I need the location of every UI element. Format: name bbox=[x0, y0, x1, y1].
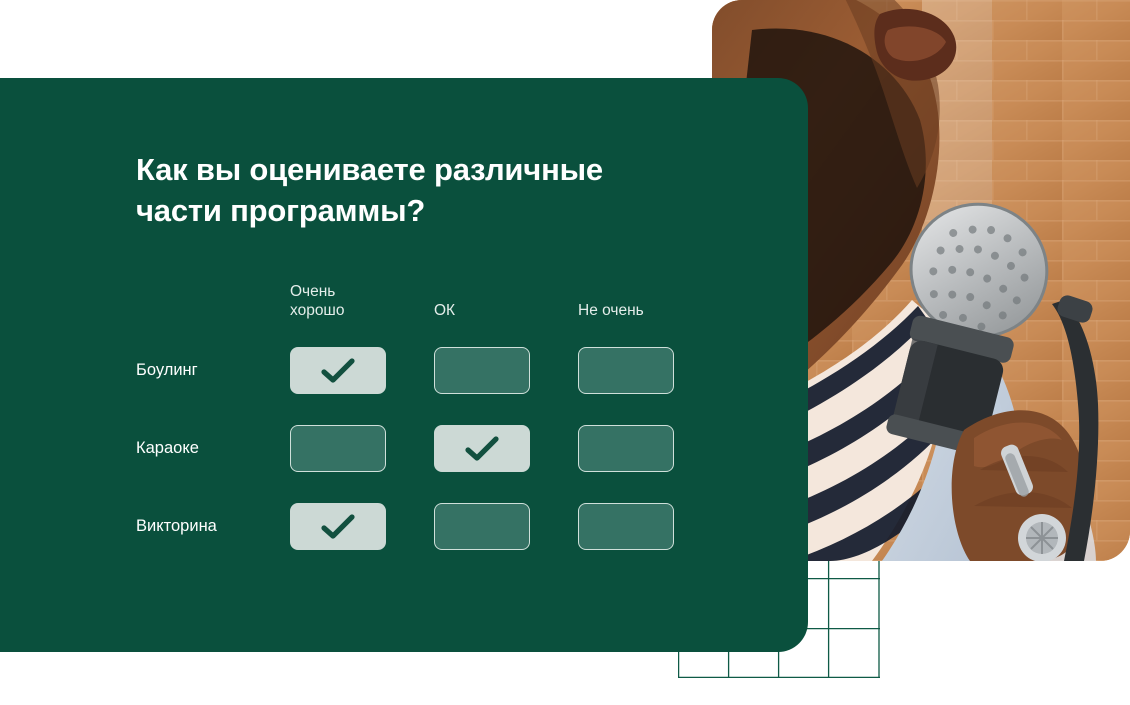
page-title: Как вы оцениваете различные части програ… bbox=[136, 150, 696, 232]
matrix-corner-cell bbox=[136, 280, 290, 332]
checkbox-karaoke-ok[interactable] bbox=[434, 425, 530, 472]
table-row: Викторина bbox=[136, 488, 722, 566]
matrix-header-row: Очень хорошо ОК Не очень bbox=[136, 280, 722, 332]
checkbox-bowling-very-good[interactable] bbox=[290, 347, 386, 394]
column-header-very-good: Очень хорошо bbox=[290, 280, 434, 332]
table-row: Боулинг bbox=[136, 332, 722, 410]
checkbox-quiz-ok[interactable] bbox=[434, 503, 530, 550]
check-icon bbox=[320, 513, 356, 541]
checkbox-bowling-not-great[interactable] bbox=[578, 347, 674, 394]
survey-card-content: Как вы оцениваете различные части програ… bbox=[136, 150, 768, 652]
table-row: Караоке bbox=[136, 410, 722, 488]
column-header-ok: ОК bbox=[434, 280, 578, 332]
row-label-bowling: Боулинг bbox=[136, 332, 290, 410]
checkbox-bowling-ok[interactable] bbox=[434, 347, 530, 394]
check-icon bbox=[320, 357, 356, 385]
check-icon bbox=[464, 435, 500, 463]
survey-card: Как вы оцениваете различные части програ… bbox=[0, 78, 808, 652]
checkbox-quiz-very-good[interactable] bbox=[290, 503, 386, 550]
row-label-karaoke: Караоке bbox=[136, 410, 290, 488]
row-label-quiz: Викторина bbox=[136, 488, 290, 566]
checkbox-quiz-not-great[interactable] bbox=[578, 503, 674, 550]
column-header-not-great: Не очень bbox=[578, 280, 722, 332]
screenshot-canvas: Как вы оцениваете различные части програ… bbox=[0, 0, 1130, 705]
rating-matrix: Очень хорошо ОК Не очень Боулинг bbox=[136, 280, 722, 566]
checkbox-karaoke-very-good[interactable] bbox=[290, 425, 386, 472]
checkbox-karaoke-not-great[interactable] bbox=[578, 425, 674, 472]
